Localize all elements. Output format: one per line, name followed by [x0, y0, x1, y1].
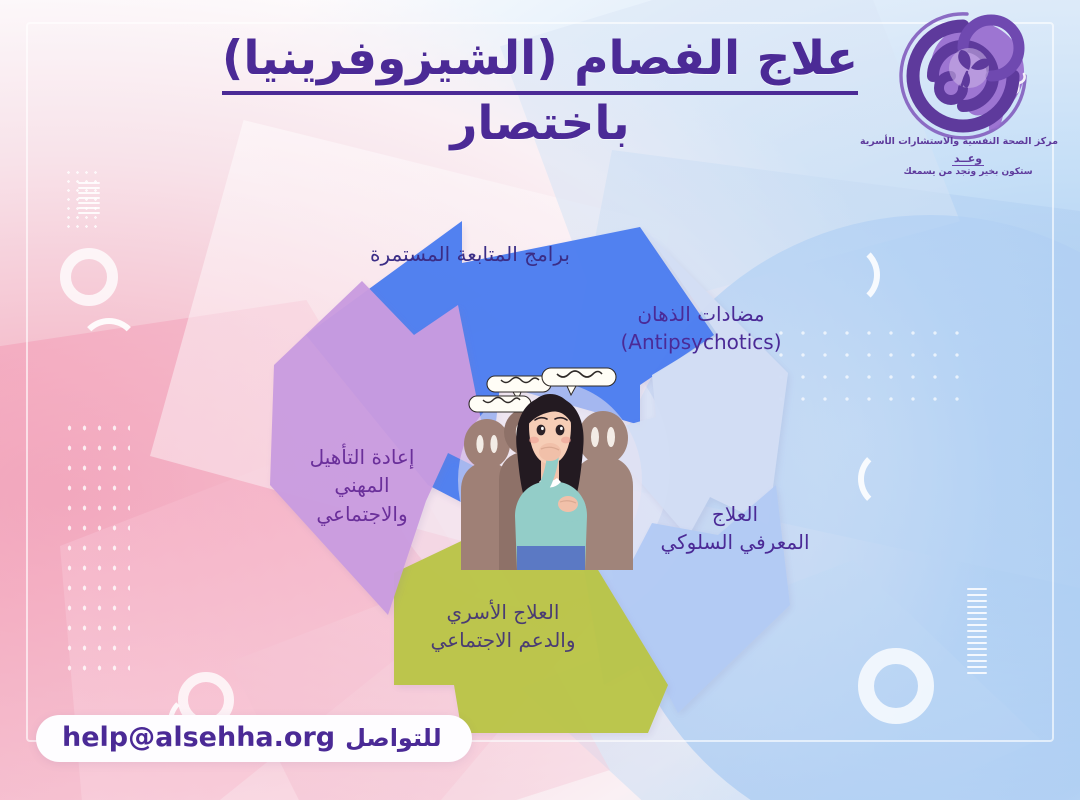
- center-illustration: [455, 340, 645, 570]
- contact-label: للتواصل: [345, 726, 442, 750]
- infographic-poster: علاج الفصام (الشيزوفرينيا) باختصار: [0, 0, 1080, 800]
- contact-footer[interactable]: للتواصل help@alsehha.org: [36, 715, 472, 762]
- logo-tagline: ستكون بخير وتجد من يسمعك: [878, 167, 1058, 177]
- logo-org-name: مركز الصحة النفسية والاستشارات الأسرية: [878, 136, 1058, 147]
- logo-brand: وعــد: [952, 153, 984, 166]
- anxious-woman-with-shadow-figures-icon: [455, 340, 645, 570]
- spiral-head-profile-with-leaves-icon: [893, 12, 1043, 140]
- contact-email[interactable]: help@alsehha.org: [62, 724, 335, 751]
- organization-logo: مركز الصحة النفسية والاستشارات الأسرية و…: [878, 12, 1058, 192]
